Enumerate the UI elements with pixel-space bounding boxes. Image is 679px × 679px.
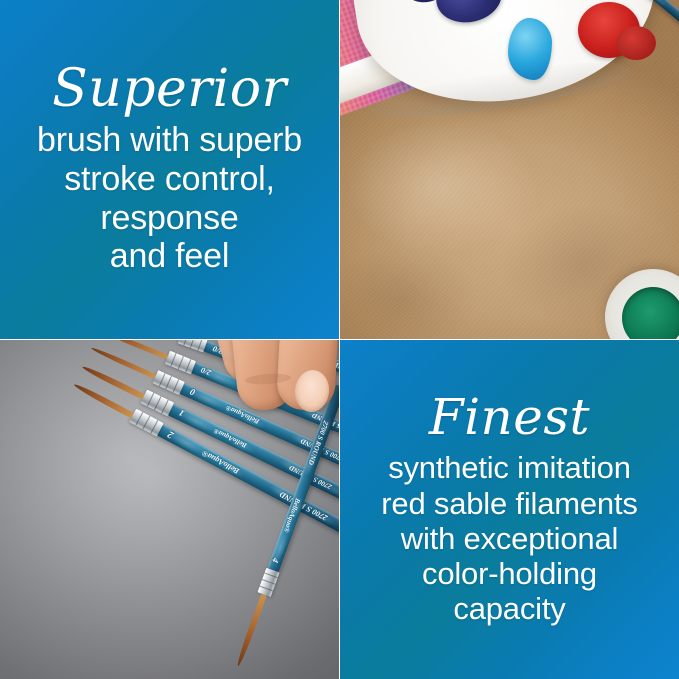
finest-line-5: capacity (453, 591, 565, 626)
superior-line-2: stroke control, (64, 160, 275, 199)
superior-line-3: response (100, 199, 238, 238)
product-collage: Superior brush with superb stroke contro… (0, 0, 679, 679)
finest-body-lines: synthetic imitation red sable filaments … (381, 450, 637, 627)
finest-script-heading: Finest (429, 392, 590, 442)
quadrant-top-right: 5/0 BelloAqua® 2700 S ROUND 3/0 BelloAqu… (340, 0, 679, 339)
green-paint (622, 287, 679, 339)
superior-script-heading: Superior (52, 63, 287, 115)
superior-text-panel: Superior brush with superb stroke contro… (0, 0, 339, 339)
finest-text-panel: Finest synthetic imitation red sable fil… (340, 340, 679, 679)
superior-line-4: and feel (110, 237, 229, 276)
cyan-paint-blob (508, 18, 552, 80)
finest-line-3: with exceptional (401, 521, 618, 556)
quadrant-top-left: Superior brush with superb stroke contro… (0, 0, 339, 339)
finest-line-4: color-holding (422, 556, 597, 591)
hand-holding-brush-photo: 5/0 BelloAqua® 2700 S ROUND 3/0 BelloAqu… (0, 340, 339, 679)
finest-line-2: red sable filaments (381, 486, 637, 521)
superior-line-1: brush with superb (37, 121, 302, 160)
hand (205, 340, 339, 480)
brushes-on-kraft-paper-photo: 5/0 BelloAqua® 2700 S ROUND 3/0 BelloAqu… (340, 0, 679, 339)
finest-line-1: synthetic imitation (388, 450, 631, 485)
red-paint-well-secondary (616, 26, 656, 60)
quadrant-bottom-left: 5/0 BelloAqua® 2700 S ROUND 3/0 BelloAqu… (0, 340, 339, 679)
superior-body-lines: brush with superb stroke control, respon… (37, 121, 302, 276)
quadrant-bottom-right: Finest synthetic imitation red sable fil… (340, 340, 679, 679)
